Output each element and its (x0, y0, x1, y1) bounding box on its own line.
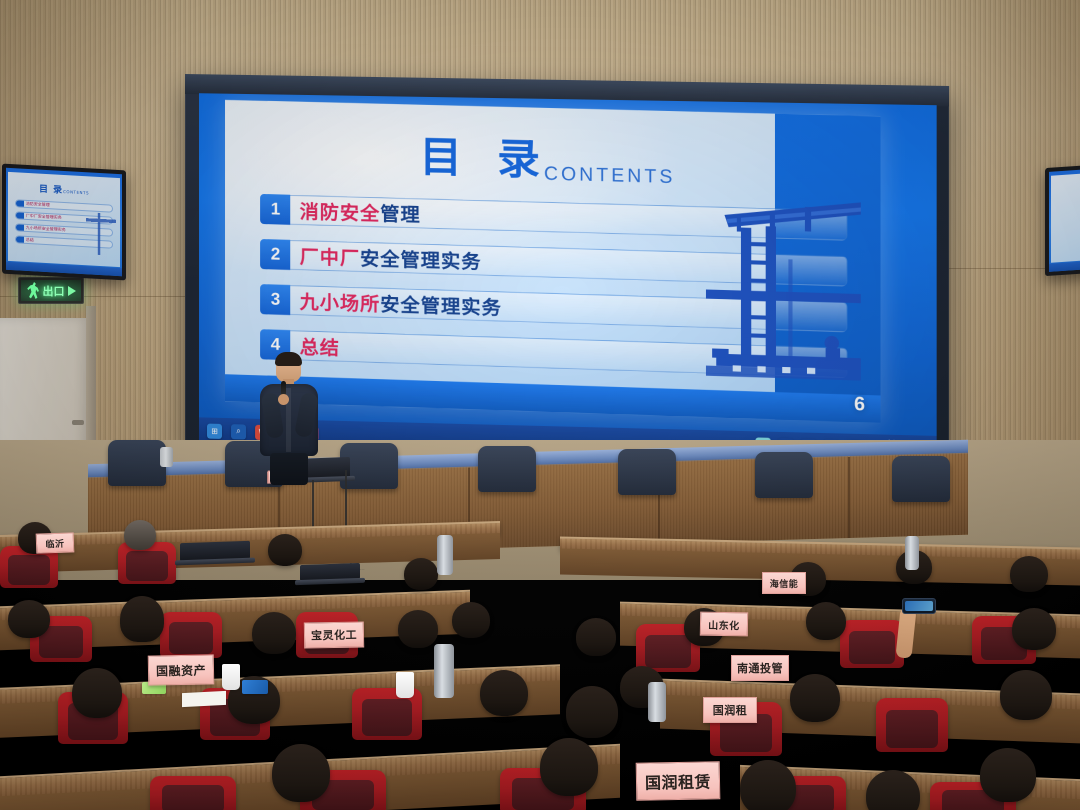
placard-label: 临沂 (45, 536, 64, 550)
toc-rest-1: 管理 (380, 199, 420, 227)
executive-chair[interactable] (618, 449, 676, 495)
phone[interactable] (242, 680, 268, 694)
toc-highlight-3: 九小场所 (300, 287, 381, 317)
audience-head (404, 558, 438, 590)
audience-head (120, 596, 164, 642)
presentation-slide: 目 录CONTENTS 1 消防安全管理 2 厂中厂安全管理实务 (225, 100, 881, 423)
side-monitor-left-title-cn: 目 录 (39, 185, 63, 196)
notebook[interactable] (182, 691, 226, 707)
exit-sign: 出口 (18, 277, 84, 304)
toc-rest-2: 安全管理实务 (360, 244, 481, 275)
slide-title-en: CONTENTS (544, 164, 675, 189)
audience-head (576, 618, 616, 656)
audience-chair[interactable] (160, 612, 222, 658)
placard-label: 宝灵化工 (311, 627, 357, 644)
audience-head (806, 602, 846, 640)
side-monitor-left-title: 目 录CONTENTS (39, 182, 89, 198)
search-icon[interactable]: ⌕ (231, 424, 246, 439)
audience-head (268, 534, 302, 566)
toc-highlight-1: 消防安全 (300, 197, 381, 226)
audience-head (480, 670, 528, 716)
list-item-label: 九小场所安全管理实务 (24, 224, 66, 232)
table-placard: 国润租 (703, 697, 757, 723)
list-item: 消防安全管理 (15, 199, 114, 213)
list-item-label: 消防安全管理 (24, 200, 50, 207)
phone[interactable] (902, 598, 936, 614)
presenter-hair (275, 352, 302, 366)
row-number-badge (16, 224, 24, 230)
list-item-label: 厂中厂安全管理实务 (24, 212, 62, 220)
conference-hall-scene: 出口 目 录CONTENTS 消防安全管理 厂中厂安全管理实务 九小场所安全管理… (0, 0, 1080, 810)
toc-number-3: 3 (261, 285, 291, 316)
paper-cup[interactable] (396, 672, 414, 698)
presenter (258, 353, 320, 483)
table-placard: 南通投管 (731, 655, 789, 681)
executive-chair[interactable] (478, 446, 536, 492)
table-placard: 国融资产 (148, 654, 215, 685)
audience-head (398, 610, 438, 648)
audience-head (790, 674, 840, 722)
audience-head (566, 686, 618, 738)
audience-head (540, 738, 598, 796)
table-placard: 宝灵化工 (304, 621, 364, 648)
placard-label: 山东化 (708, 616, 740, 632)
presenter-legs (270, 453, 308, 485)
toc-number-2: 2 (261, 239, 291, 270)
toc-rest-3: 安全管理实务 (380, 290, 502, 321)
row-number-badge (16, 212, 24, 218)
thermos-flask[interactable] (434, 644, 454, 698)
audience-head (124, 520, 156, 550)
placard-label: 南通投管 (737, 660, 783, 676)
water-bottle[interactable] (648, 682, 666, 722)
water-bottle[interactable] (160, 447, 173, 467)
executive-chair[interactable] (892, 456, 950, 502)
row-number-badge (16, 236, 24, 242)
row-number-badge (16, 200, 24, 206)
laptop[interactable] (300, 563, 360, 581)
placard-label: 国润租赁 (645, 768, 711, 793)
table-placard: 国润租赁 (636, 761, 721, 800)
thermos-flask[interactable] (437, 535, 453, 575)
table-placard: 临沂 (36, 532, 75, 553)
presenter-hand (278, 394, 289, 405)
exit-sign-label: 出口 (43, 283, 65, 299)
audience-head (8, 600, 50, 638)
table-placard: 山东化 (700, 612, 748, 637)
audience-head (740, 760, 796, 810)
side-monitor-right-screen (1049, 166, 1080, 272)
audience-chair[interactable] (840, 620, 904, 668)
thermos-flask[interactable] (905, 536, 919, 570)
toc-highlight-2: 厂中厂 (300, 242, 360, 271)
laptop[interactable] (180, 541, 250, 561)
side-monitor-left-title-en: CONTENTS (63, 189, 89, 195)
side-monitor-left: 目 录CONTENTS 消防安全管理 厂中厂安全管理实务 九小场所安全管理实务 … (2, 164, 126, 281)
audience-chair[interactable] (876, 698, 948, 752)
side-monitor-left-screen: 目 录CONTENTS 消防安全管理 厂中厂安全管理实务 九小场所安全管理实务 … (6, 168, 122, 276)
executive-chair[interactable] (755, 452, 813, 498)
side-monitor-right-slide (1051, 170, 1080, 262)
executive-chair[interactable] (108, 440, 166, 486)
audience-head (1000, 670, 1052, 720)
slide-title-cn: 目 录 (420, 132, 551, 185)
placard-label: 国润租 (713, 702, 748, 718)
audience-head (272, 744, 330, 802)
list-item-label: 总结 (24, 236, 34, 243)
audience-head (1010, 556, 1048, 592)
crane-illustration-icon (86, 212, 115, 256)
placard-label: 国融资产 (156, 661, 206, 679)
side-monitor-left-slide: 目 录CONTENTS 消防安全管理 厂中厂安全管理实务 九小场所安全管理实务 … (8, 172, 120, 267)
door-handle[interactable] (72, 420, 84, 425)
placard-label: 海信能 (770, 577, 799, 590)
table-placard: 海信能 (762, 572, 806, 594)
paper-cup[interactable] (222, 664, 240, 690)
audience-chair[interactable] (150, 776, 236, 810)
audience-head (980, 748, 1036, 802)
audience-head (452, 602, 490, 638)
audience-head (1012, 608, 1056, 650)
exit-arrow-icon (68, 286, 76, 296)
toc-number-1: 1 (261, 194, 291, 225)
crane-illustration-icon (706, 196, 861, 389)
slide-page-number: 6 (854, 394, 865, 417)
side-monitor-right (1045, 162, 1080, 276)
audience-head (72, 668, 122, 718)
audience-head (252, 612, 296, 654)
windows-start-icon[interactable]: ⊞ (207, 423, 222, 438)
